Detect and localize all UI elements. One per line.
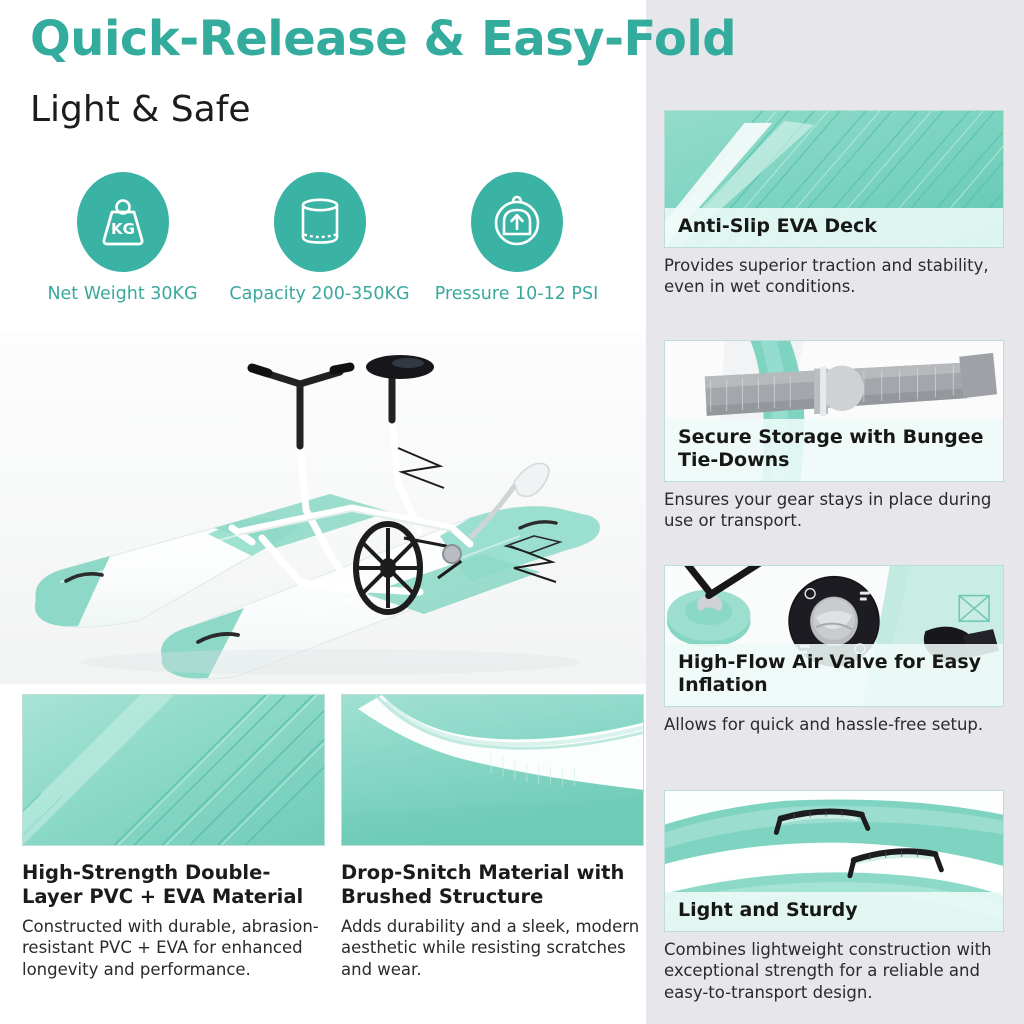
feature-desc: Combines lightweight construction with e… — [664, 939, 1004, 1003]
feature-card-air-valve: High-Flow Air Valve for Easy Inflation A… — [664, 565, 1004, 735]
high-flow-air-valve-closeup: High-Flow Air Valve for Easy Inflation — [664, 565, 1004, 707]
feature-desc: Allows for quick and hassle-free setup. — [664, 714, 1004, 735]
spec-label-capacity: Capacity 200-350KG — [229, 284, 409, 304]
page-subtitle: Light & Safe — [30, 90, 251, 130]
spec-item-net-weight: KG Net Weight 30KG — [24, 172, 221, 312]
material-card-title: High-Strength Double-Layer PVC + EVA Mat… — [22, 861, 325, 909]
feature-caption: Anti-Slip EVA Deck — [665, 208, 1003, 247]
feature-card-light-sturdy: Light and Sturdy Combines lightweight co… — [664, 790, 1004, 1003]
weight-badge-text: KG — [111, 220, 135, 238]
spec-label-pressure: Pressure 10-12 PSI — [435, 284, 599, 304]
material-card-drop-snitch: Drop-Snitch Material with Brushed Struct… — [341, 694, 644, 980]
infographic-page: Quick-Release & Easy-Fold Light & Safe K… — [0, 0, 1024, 1024]
cylinder-capacity-icon — [274, 172, 366, 272]
feature-caption: Secure Storage with Bungee Tie-Downs — [665, 419, 1003, 481]
pressure-pump-icon — [471, 172, 563, 272]
spec-item-capacity: Capacity 200-350KG — [221, 172, 418, 312]
handlebar — [252, 367, 350, 446]
feature-caption: Light and Sturdy — [665, 892, 1003, 931]
teal-white-brushed-edge-closeup — [341, 694, 644, 846]
feature-card-eva-deck: Anti-Slip EVA Deck Provides superior tra… — [664, 110, 1004, 298]
spec-row: KG Net Weight 30KG Capacity 200-350KG — [24, 172, 640, 312]
feature-desc: Ensures your gear stays in place during … — [664, 489, 1004, 532]
propeller-wheel — [356, 524, 420, 612]
hero-product-image — [0, 332, 646, 684]
page-title: Quick-Release & Easy-Fold — [30, 14, 930, 64]
material-card-desc: Constructed with durable, abrasion-resis… — [22, 916, 325, 981]
gray-bungee-strap-with-buckle: Secure Storage with Bungee Tie-Downs — [664, 340, 1004, 482]
teal-pvc-fabric-seams-closeup — [22, 694, 325, 846]
feature-caption: High-Flow Air Valve for Easy Inflation — [665, 644, 1003, 706]
spec-item-pressure: Pressure 10-12 PSI — [418, 172, 615, 312]
anti-slip-eva-deck-texture: Anti-Slip EVA Deck — [664, 110, 1004, 248]
material-card-desc: Adds durability and a sleek, modern aest… — [341, 916, 644, 981]
saddle — [366, 355, 434, 420]
spec-label-net-weight: Net Weight 30KG — [47, 284, 197, 304]
weight-kg-icon: KG — [77, 172, 169, 272]
material-card-pvc-eva: High-Strength Double-Layer PVC + EVA Mat… — [22, 694, 325, 980]
material-card-title: Drop-Snitch Material with Brushed Struct… — [341, 861, 644, 909]
feature-desc: Provides superior traction and stability… — [664, 255, 1004, 298]
pontoon-carry-handles-closeup: Light and Sturdy — [664, 790, 1004, 932]
feature-card-bungee-tiedowns: Secure Storage with Bungee Tie-Downs Ens… — [664, 340, 1004, 532]
